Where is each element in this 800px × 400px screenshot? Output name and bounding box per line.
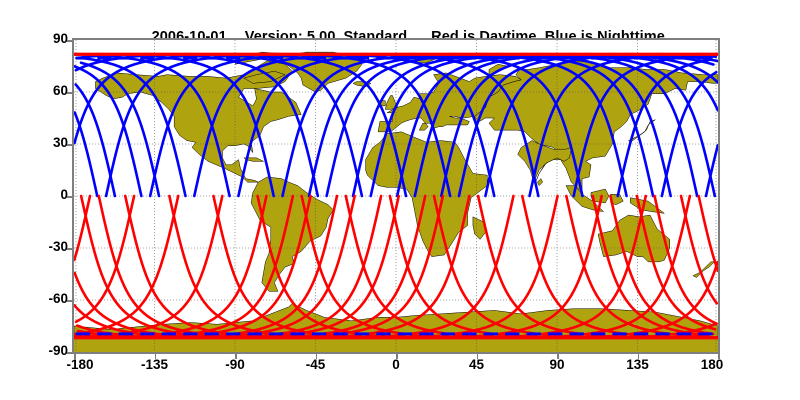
x-tick-neg135: -135 <box>115 357 195 372</box>
x-tick-neg180: -180 <box>40 357 120 372</box>
north-nighttime-band <box>634 57 648 60</box>
south-nighttime-band <box>655 332 669 335</box>
y-tick-90: 90 <box>8 31 68 46</box>
south-nighttime-band <box>419 332 433 335</box>
north-nighttime-band <box>76 57 90 60</box>
y-tickmark <box>67 248 72 250</box>
north-nighttime-band <box>677 57 691 60</box>
north-nighttime-band <box>162 57 176 60</box>
nighttime-track-segment <box>150 54 494 196</box>
south-nighttime-band <box>398 332 412 335</box>
nighttime-track-segment <box>194 54 538 196</box>
north-nighttime-band <box>312 57 326 60</box>
south-nighttime-band <box>333 332 347 335</box>
south-nighttime-band <box>97 332 111 335</box>
x-tick-180: 180 <box>672 357 752 372</box>
x-tick-neg45: -45 <box>276 357 356 372</box>
north-nighttime-band <box>97 57 111 60</box>
south-nighttime-band <box>527 332 541 335</box>
north-nighttime-band <box>570 57 584 60</box>
y-tickmark <box>67 300 72 302</box>
x-tick-90: 90 <box>517 357 597 372</box>
x-tickmark <box>396 354 398 359</box>
north-nighttime-band <box>527 57 541 60</box>
south-nighttime-band <box>612 332 626 335</box>
south-nighttime-band <box>548 332 562 335</box>
south-nighttime-band <box>269 332 283 335</box>
south-nighttime-band <box>484 332 498 335</box>
y-tick-neg30: -30 <box>8 239 68 254</box>
nighttime-track-segment <box>75 112 98 196</box>
y-tickmark <box>67 92 72 94</box>
x-tickmark <box>235 354 237 359</box>
south-nighttime-band <box>677 332 691 335</box>
y-tickmark <box>67 352 72 354</box>
x-tickmark <box>557 354 559 359</box>
x-tickmark <box>74 354 76 359</box>
daytime-track-segment <box>258 196 602 338</box>
south-nighttime-band <box>462 332 476 335</box>
south-nighttime-band <box>226 332 240 335</box>
south-nighttime-band <box>441 332 455 335</box>
north-nighttime-band <box>505 57 519 60</box>
daytime-track-segment <box>99 196 443 338</box>
y-tick-0: 0 <box>8 187 68 202</box>
south-nighttime-band <box>376 332 390 335</box>
north-nighttime-band <box>484 57 498 60</box>
north-nighttime-band <box>398 57 412 60</box>
south-daytime-band <box>74 336 718 339</box>
daytime-track-segment <box>699 196 718 271</box>
south-nighttime-band <box>119 332 133 335</box>
north-nighttime-band <box>205 57 219 60</box>
north-nighttime-band <box>119 57 133 60</box>
south-nighttime-band <box>183 332 197 335</box>
nighttime-track-segment <box>353 54 697 196</box>
south-nighttime-band <box>698 332 712 335</box>
x-tickmark <box>477 354 479 359</box>
y-tick-neg60: -60 <box>8 291 68 306</box>
y-tick-30: 30 <box>8 135 68 150</box>
nighttime-track-segment <box>327 54 671 196</box>
south-nighttime-band <box>312 332 326 335</box>
x-tickmark <box>718 354 720 359</box>
x-tickmark <box>638 354 640 359</box>
x-tickmark <box>155 354 157 359</box>
nighttime-track-segment <box>238 54 582 196</box>
north-nighttime-band <box>226 57 240 60</box>
south-nighttime-band <box>76 332 90 335</box>
north-nighttime-band <box>612 57 626 60</box>
north-daytime-band <box>74 53 718 56</box>
y-tick-neg90: -90 <box>8 343 68 358</box>
south-nighttime-band <box>205 332 219 335</box>
south-nighttime-band <box>634 332 648 335</box>
north-nighttime-band <box>333 57 347 60</box>
plot-area <box>72 38 720 354</box>
north-nighttime-band <box>655 57 669 60</box>
south-nighttime-band <box>505 332 519 335</box>
nighttime-track-segment <box>106 54 450 196</box>
north-nighttime-band <box>548 57 562 60</box>
north-nighttime-band <box>591 57 605 60</box>
north-nighttime-band <box>462 57 476 60</box>
x-tick-135: 135 <box>598 357 678 372</box>
daytime-track-segment <box>74 196 381 338</box>
y-tick-60: 60 <box>8 83 68 98</box>
north-nighttime-band <box>376 57 390 60</box>
south-nighttime-band <box>591 332 605 335</box>
y-tickmark <box>67 144 72 146</box>
north-nighttime-band <box>698 57 712 60</box>
nighttime-track-segment <box>76 54 362 196</box>
daytime-track-segment <box>302 196 646 338</box>
ground-track-figure: 2006-10-01Version: 5.00StandardRed is Da… <box>0 0 800 400</box>
daytime-track-segment <box>169 196 513 338</box>
y-tickmark <box>67 40 72 42</box>
nighttime-track-segment <box>309 54 653 196</box>
north-nighttime-band <box>419 57 433 60</box>
north-nighttime-band <box>355 57 369 60</box>
north-nighttime-band <box>441 57 455 60</box>
daytime-track-segment <box>213 196 557 338</box>
nighttime-track-segment <box>283 54 627 196</box>
north-nighttime-band <box>140 57 154 60</box>
x-tick-0: 0 <box>356 357 436 372</box>
x-tick-45: 45 <box>437 357 517 372</box>
south-nighttime-band <box>570 332 584 335</box>
south-nighttime-band <box>290 332 304 335</box>
south-nighttime-band <box>355 332 369 335</box>
x-tickmark <box>316 354 318 359</box>
daytime-track-segment <box>81 196 425 338</box>
x-tick-neg90: -90 <box>195 357 275 372</box>
south-nighttime-band <box>140 332 154 335</box>
daytime-track-segment <box>478 196 708 338</box>
daytime-track-segment <box>346 196 690 338</box>
nighttime-track-segment <box>371 54 715 196</box>
north-nighttime-band <box>183 57 197 60</box>
north-nighttime-band <box>248 57 262 60</box>
south-nighttime-band <box>248 332 262 335</box>
daytime-track-segment <box>125 196 469 338</box>
north-nighttime-band <box>269 57 283 60</box>
south-nighttime-band <box>162 332 176 335</box>
nighttime-track-segment <box>75 66 142 196</box>
north-nighttime-band <box>290 57 304 60</box>
satellite-ground-tracks <box>74 40 718 352</box>
y-tickmark <box>67 196 72 198</box>
